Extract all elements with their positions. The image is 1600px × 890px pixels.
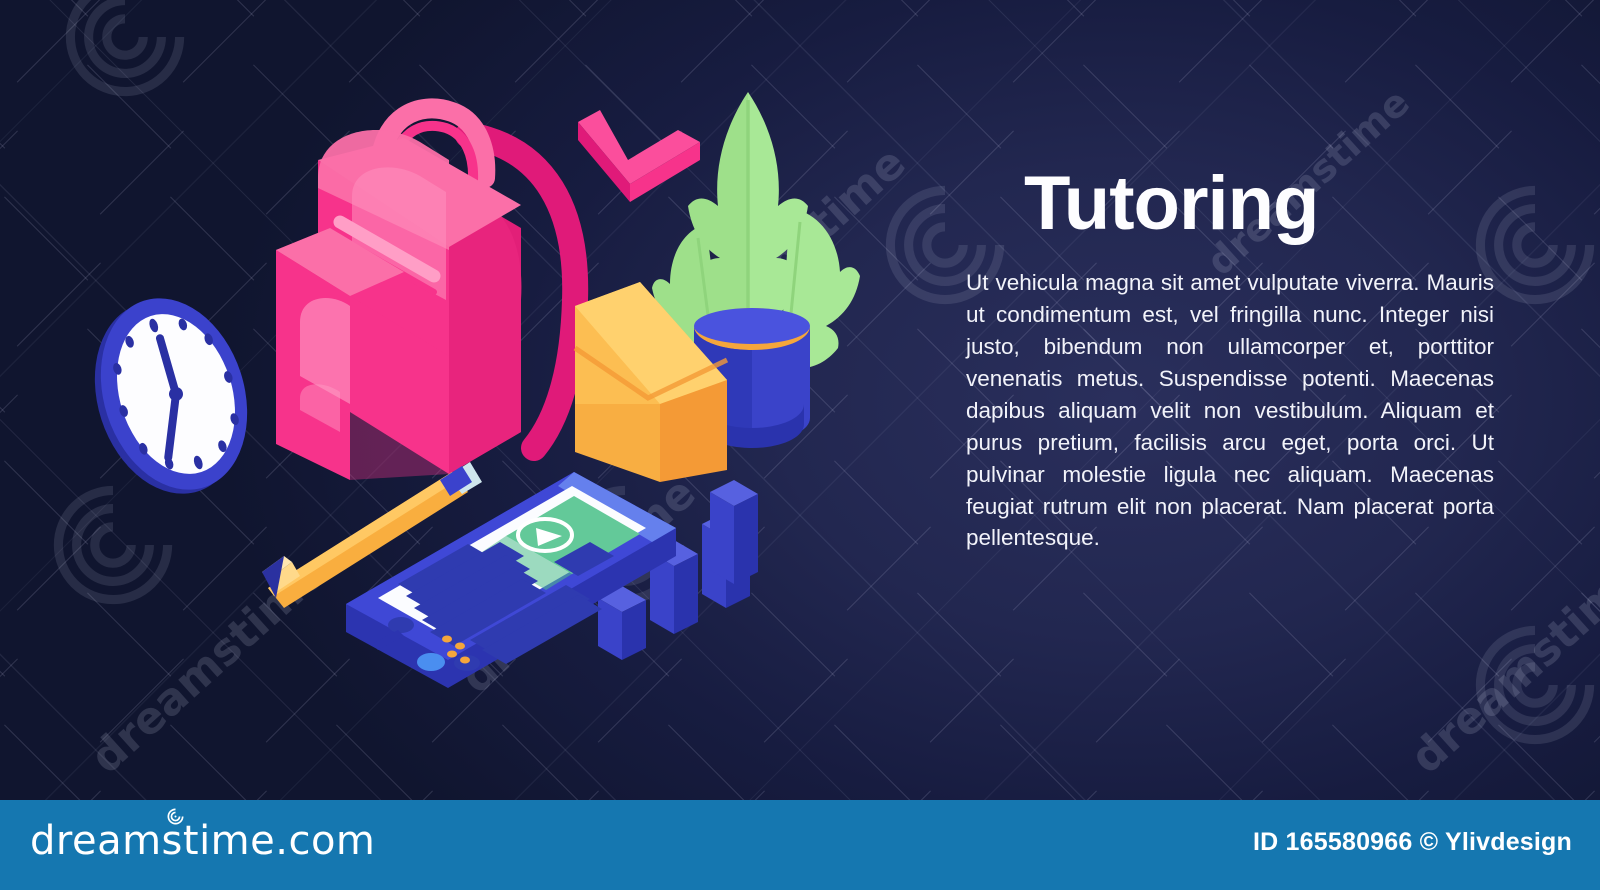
watermark-text: dreamstime (1401, 547, 1600, 783)
chart-bar (710, 480, 758, 584)
checkmark-icon (578, 110, 700, 202)
dreamstime-logo-text: dreamstime.com (30, 818, 375, 864)
wall-clock-icon (71, 279, 271, 513)
backpack-icon (276, 108, 575, 480)
chart-bar (598, 586, 646, 660)
stock-illustration-canvas: dreamstime dreamstime dreamstime dreamst… (0, 0, 1600, 890)
body-paragraph: Ut vehicula magna sit amet vulputate viv… (966, 267, 1494, 554)
image-credit: ID 165580966 © Ylivdesign (1253, 828, 1572, 857)
tutoring-illustration (0, 0, 1000, 800)
hero-text-column: Tutoring Ut vehicula magna sit amet vulp… (966, 168, 1494, 554)
page-title: Tutoring (1024, 168, 1494, 241)
watermark-spiral-icon (1470, 620, 1600, 750)
spiral-icon (167, 808, 184, 825)
dreamstime-logo[interactable]: dreamstime.com (30, 818, 375, 864)
watermark-footer-bar: dreamstime.com ID 165580966 © Ylivdesign (0, 800, 1600, 890)
